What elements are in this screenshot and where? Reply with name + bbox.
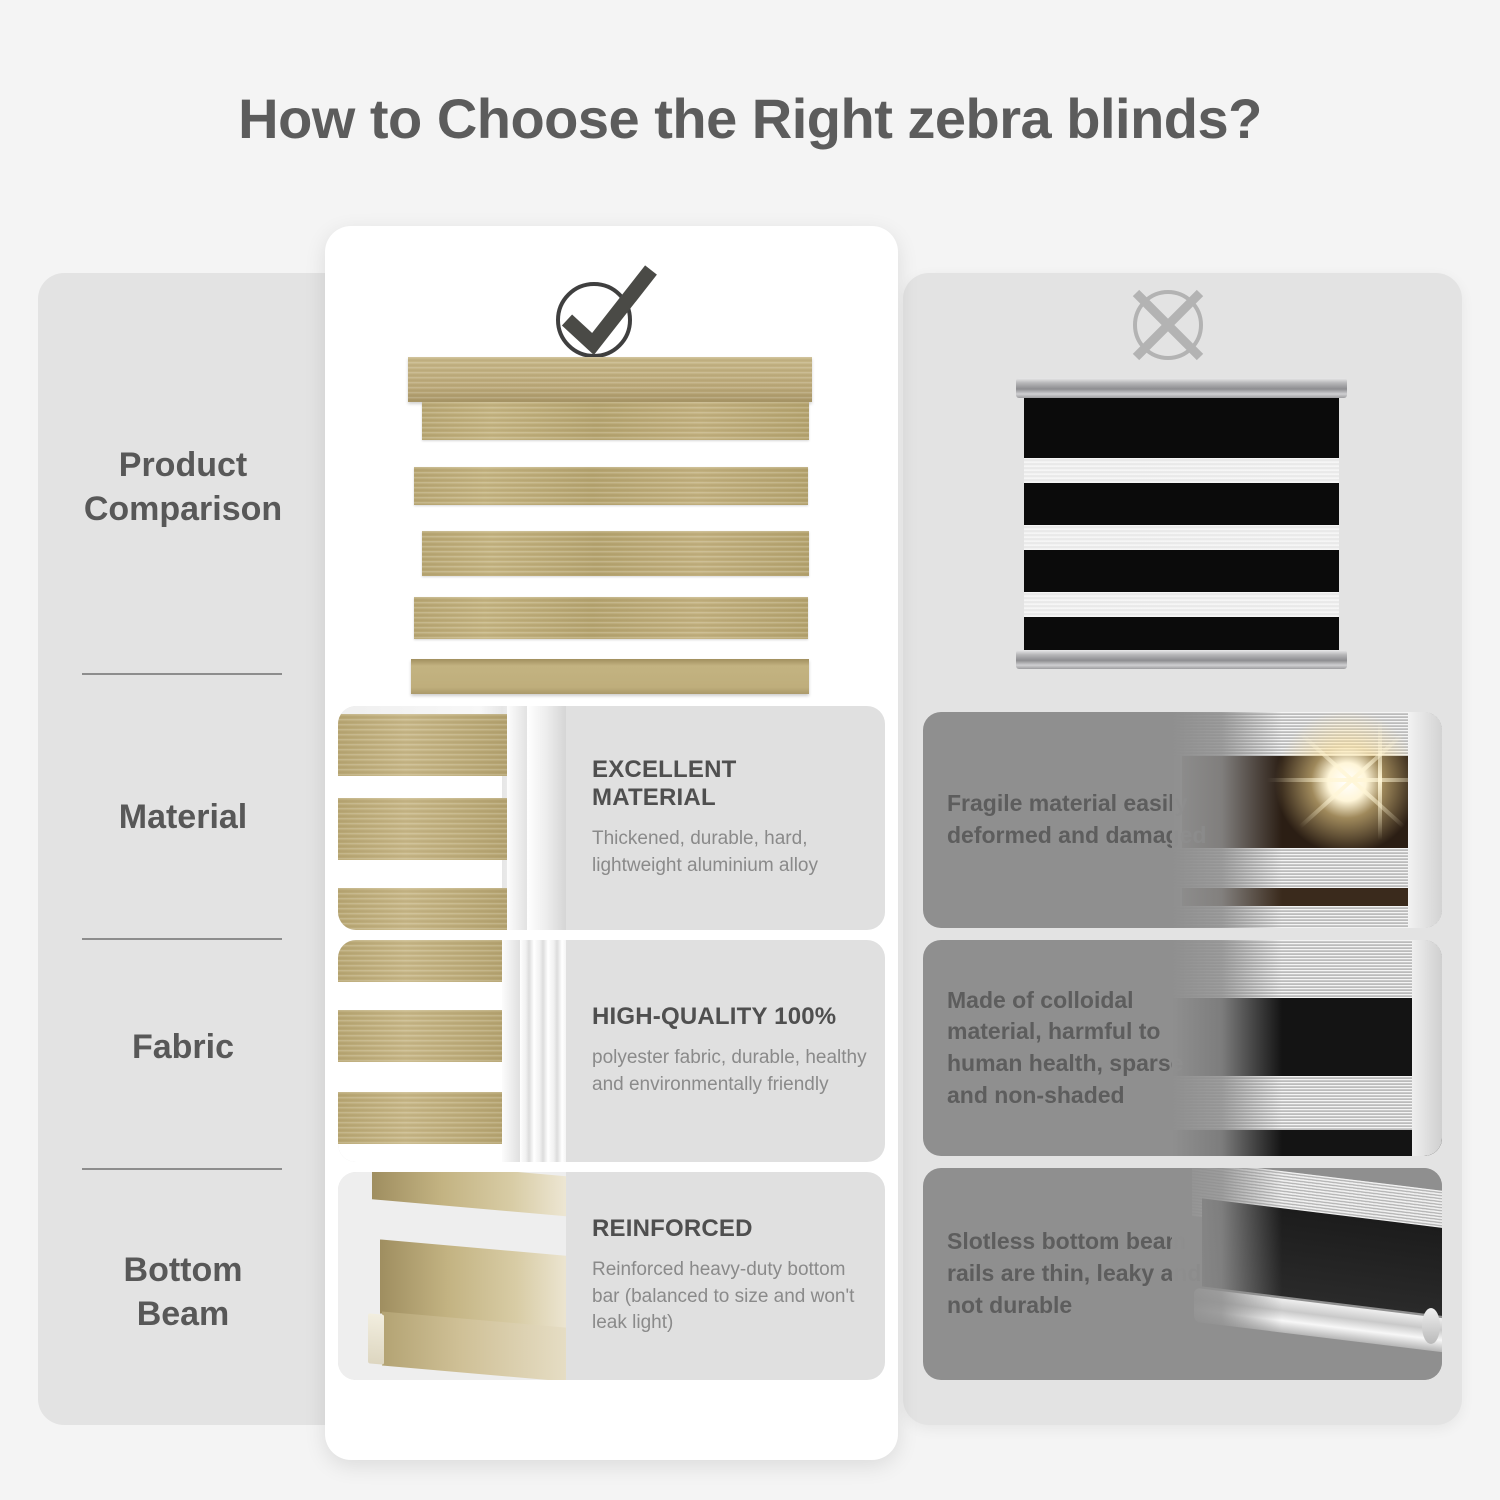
blind-sheer-band bbox=[338, 860, 502, 888]
good-hero-image bbox=[408, 357, 812, 697]
frame-moulding bbox=[527, 706, 566, 930]
criteria-divider-1 bbox=[82, 673, 282, 675]
bottom-beam-copy: REINFORCED Reinforced heavy-duty bottom … bbox=[592, 1172, 867, 1380]
blind-black-band bbox=[1024, 550, 1339, 592]
cross-circle-icon bbox=[1118, 280, 1218, 375]
page-title: How to Choose the Right zebra blinds? bbox=[0, 86, 1500, 151]
blind-window-frame bbox=[338, 706, 566, 930]
criteria-label-bottom-beam: Bottom Beam bbox=[38, 1203, 328, 1383]
criteria-column: Product Comparison Material Fabric Botto… bbox=[38, 273, 328, 1425]
blind-slat bbox=[422, 531, 809, 576]
blind-sheer-band bbox=[1024, 525, 1339, 550]
blind-slat bbox=[422, 402, 809, 440]
thumb-bad-material-image bbox=[1172, 712, 1442, 928]
blind-slat bbox=[372, 1172, 566, 1217]
blind-sheer-band bbox=[338, 776, 502, 798]
bottom-beam-heading: REINFORCED bbox=[592, 1215, 867, 1243]
blind-slat bbox=[414, 597, 808, 639]
frame-edge bbox=[502, 940, 520, 1162]
material-heading: EXCELLENT MATERIAL bbox=[592, 756, 867, 812]
bottom-bar-end-cap bbox=[368, 1313, 384, 1364]
blind-black-band bbox=[1024, 483, 1339, 525]
bottom-beam-angled bbox=[338, 1172, 566, 1380]
blind-sheer-band bbox=[1024, 592, 1339, 617]
roller-headrail bbox=[1016, 378, 1347, 398]
image-fade-overlay bbox=[1172, 1168, 1282, 1380]
bad-feature-fabric: Made of colloidal material, harmful to h… bbox=[923, 940, 1442, 1156]
frame-moulding bbox=[520, 940, 566, 1162]
sun-ray bbox=[1378, 720, 1382, 840]
fabric-copy: HIGH-QUALITY 100% polyester fabric, dura… bbox=[592, 940, 867, 1162]
frame-edge bbox=[1408, 712, 1442, 928]
bottom-beam-body: Reinforced heavy-duty bottom bar (balanc… bbox=[592, 1257, 867, 1338]
roller-bottom-rail bbox=[1016, 650, 1347, 669]
blind-slat bbox=[338, 714, 507, 776]
thumb-material-image bbox=[338, 706, 566, 930]
bad-hero-image bbox=[1016, 378, 1347, 669]
blind-fabric-closeup bbox=[338, 940, 566, 1162]
blind-sheer-band bbox=[338, 1144, 502, 1162]
blind-slat bbox=[338, 798, 507, 860]
blind-slat bbox=[338, 940, 507, 982]
blind-sheer-band bbox=[1024, 458, 1339, 483]
frame-edge bbox=[1412, 940, 1442, 1156]
image-fade-overlay bbox=[1172, 940, 1282, 1156]
thumb-bad-bottom-beam-image bbox=[1172, 1168, 1442, 1380]
blind-headrail bbox=[408, 357, 812, 402]
check-circle-icon bbox=[547, 262, 662, 367]
fabric-heading: HIGH-QUALITY 100% bbox=[592, 1003, 867, 1031]
criteria-divider-3 bbox=[82, 1168, 282, 1170]
blind-sheer-band bbox=[338, 982, 502, 1010]
blind-bottom-bar bbox=[411, 659, 809, 694]
blind-black-band bbox=[1024, 398, 1339, 458]
thumb-fabric-image bbox=[338, 940, 566, 1162]
thumb-bottom-beam-image bbox=[338, 1172, 566, 1380]
blind-slat bbox=[338, 1092, 507, 1144]
blind-black-band bbox=[1024, 617, 1339, 652]
blind-slat bbox=[414, 467, 808, 505]
bad-feature-bottom-beam: Slotless bottom beam rails are thin, lea… bbox=[923, 1168, 1442, 1380]
good-feature-material: EXCELLENT MATERIAL Thickened, durable, h… bbox=[338, 706, 885, 930]
material-body: Thickened, durable, hard, lightweight al… bbox=[592, 826, 867, 880]
criteria-divider-2 bbox=[82, 938, 282, 940]
material-copy: EXCELLENT MATERIAL Thickened, durable, h… bbox=[592, 706, 867, 930]
blind-slat bbox=[338, 1010, 507, 1062]
blind-slat bbox=[338, 888, 507, 930]
criteria-label-material: Material bbox=[38, 748, 328, 888]
criteria-label-product-comparison: Product Comparison bbox=[38, 403, 328, 573]
criteria-label-fabric: Fabric bbox=[38, 978, 328, 1118]
image-fade-overlay bbox=[1172, 712, 1282, 928]
good-feature-bottom-beam: REINFORCED Reinforced heavy-duty bottom … bbox=[338, 1172, 885, 1380]
thumb-bad-fabric-image bbox=[1172, 940, 1442, 1156]
frame-edge bbox=[507, 706, 528, 930]
bottom-beam-end-cap bbox=[1422, 1308, 1440, 1344]
bad-feature-material: Fragile material easily deformed and dam… bbox=[923, 712, 1442, 928]
fabric-body: polyester fabric, durable, healthy and e… bbox=[592, 1045, 867, 1099]
blind-sheer-band bbox=[338, 1062, 502, 1092]
good-feature-fabric: HIGH-QUALITY 100% polyester fabric, dura… bbox=[338, 940, 885, 1162]
